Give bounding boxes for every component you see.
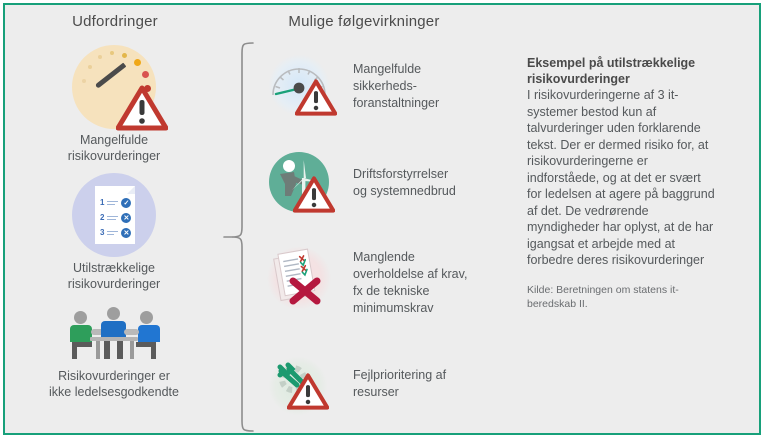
- gauge-warning-icon: [267, 53, 337, 123]
- meeting-people-icon: [62, 305, 166, 365]
- consequence-label-2: Driftsforstyrrelser og systemnedbrud: [353, 166, 456, 200]
- warning-triangle-icon: [295, 79, 337, 116]
- gauge-dot-small-2: [110, 51, 114, 55]
- person-body-left: [70, 325, 92, 342]
- gauge-dot-red-1: [142, 71, 149, 78]
- wind-turbine-warning-icon: [267, 150, 337, 220]
- column-heading-consequences: Mulige følgevirkninger: [219, 13, 509, 30]
- person-head-right: [140, 311, 153, 324]
- row-number-1: 1: [100, 199, 104, 207]
- gauge-dot-small-5: [82, 79, 86, 83]
- gauge-dot-small-1: [122, 53, 127, 58]
- person-body-right: [138, 325, 160, 342]
- check-mark-icon: ✓: [121, 198, 131, 208]
- cross-mark-icon-1: ✕: [121, 213, 131, 223]
- person-arm-right: [124, 329, 139, 335]
- person-leg-middle-2: [117, 341, 123, 359]
- speedometer-warning-icon: [72, 45, 156, 129]
- consequence-label-4: Fejlprioritering af resurser: [353, 367, 446, 401]
- challenge-label-2: Utilstrækkelige risikovurderinger: [9, 260, 219, 292]
- consequence-label-3: Manglende overholdelse af krav, fx de te…: [353, 249, 467, 317]
- checklist-row-3: 3 ✕: [100, 228, 131, 238]
- wrench-warning-icon: [267, 355, 337, 425]
- challenge-item-2: 1 ✓ 2 ✕ 3 ✕ Utilstrækkel: [9, 173, 219, 292]
- person-shin-right: [151, 345, 156, 359]
- person-head-left: [74, 311, 87, 324]
- consequence-label-1: Mangelfulde sikkerheds- foranstaltninger: [353, 61, 439, 112]
- warning-triangle-icon: [293, 176, 335, 213]
- warning-triangle-icon: [116, 85, 168, 131]
- document-checklist-icon: 1 ✓ 2 ✕ 3 ✕: [72, 173, 156, 257]
- row-lines-2: [107, 216, 118, 221]
- warning-triangle-icon: [287, 373, 329, 410]
- infographic-canvas: Udfordringer Mulige følgevirkninger: [5, 5, 759, 433]
- table-leg-2: [130, 341, 134, 359]
- challenge-item-3: Risikovurderinger er ikke ledelsesgodken…: [9, 305, 219, 400]
- infographic-frame: Udfordringer Mulige følgevirkninger: [3, 3, 761, 435]
- row-number-3: 3: [100, 229, 104, 237]
- person-shin-left: [72, 345, 77, 359]
- challenge-label-1: Mangelfulde risikovurderinger: [9, 132, 219, 164]
- panel-body: I risikovurderingerne af 3 it- systemer …: [527, 87, 743, 269]
- checklist-cross-icon: [267, 245, 337, 315]
- cross-mark-icon-2: ✕: [121, 228, 131, 238]
- panel-title: Eksempel på utilstrækkelige risikovurder…: [527, 55, 743, 87]
- panel-source: Kilde: Beretningen om statens it- bereds…: [527, 283, 743, 311]
- challenge-item-1: Mangelfulde risikovurderinger: [9, 45, 219, 164]
- gauge-dot-small-4: [88, 65, 92, 69]
- example-panel: Eksempel på utilstrækkelige risikovurder…: [527, 55, 743, 311]
- gauge-dot-orange-1: [134, 59, 141, 66]
- checklist-row-2: 2 ✕: [100, 213, 131, 223]
- table-leg-1: [96, 341, 100, 359]
- person-head-middle: [107, 307, 120, 320]
- row-lines-3: [107, 231, 118, 236]
- grouping-brace: [223, 41, 261, 433]
- gauge-dot-small-3: [98, 55, 102, 59]
- column-heading-challenges: Udfordringer: [5, 13, 225, 30]
- row-number-2: 2: [100, 214, 104, 222]
- checklist-graphic: [267, 245, 331, 307]
- challenge-label-3: Risikovurderinger er ikke ledelsesgodken…: [9, 368, 219, 400]
- checklist-row-1: 1 ✓: [100, 198, 131, 208]
- document-sheet: 1 ✓ 2 ✕ 3 ✕: [95, 186, 135, 244]
- person-leg-middle-1: [104, 341, 110, 359]
- row-lines-1: [107, 201, 118, 206]
